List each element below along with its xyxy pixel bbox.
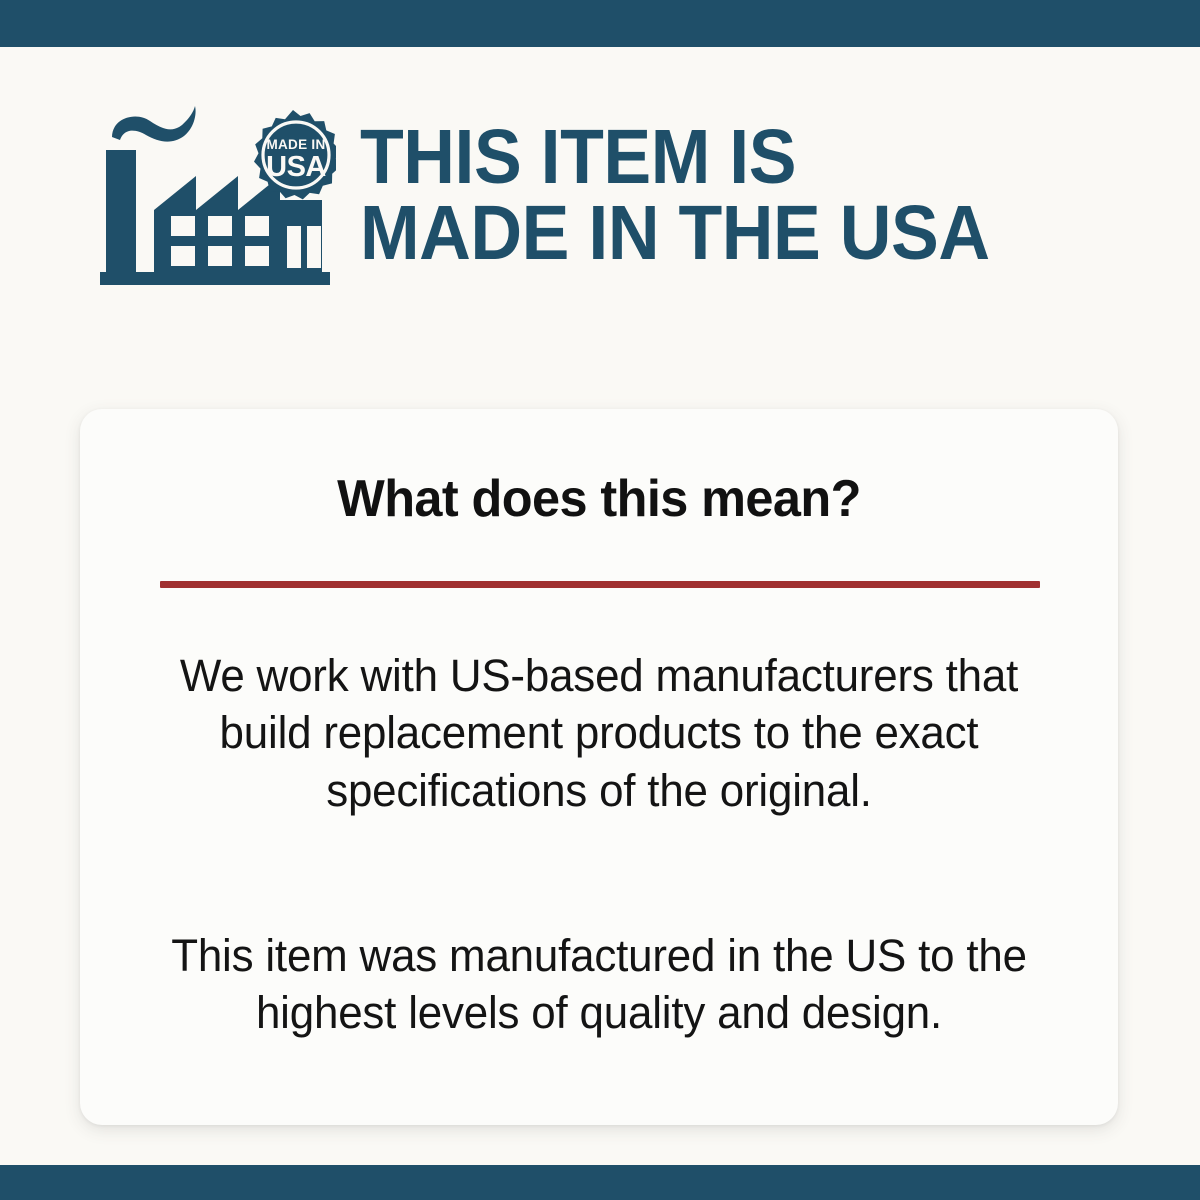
made-in-usa-logo: MADE IN USA (98, 104, 336, 286)
info-card: What does this mean? We work with US-bas… (80, 409, 1118, 1125)
badge-line1: MADE IN (266, 137, 325, 152)
badge-line2: USA (266, 151, 326, 183)
heading-divider (160, 581, 1040, 588)
page-canvas: MADE IN USA THIS ITEM IS MADE IN THE USA… (0, 47, 1200, 1165)
top-accent-bar (0, 0, 1200, 47)
made-in-usa-badge-icon: MADE IN USA (254, 110, 336, 199)
card-heading: What does this mean? (96, 469, 1103, 529)
smoke-plume-icon (112, 106, 196, 142)
factory-icon: MADE IN USA (98, 104, 336, 286)
card-paragraph-2: This item was manufactured in the US to … (154, 927, 1044, 1042)
card-paragraph-1: We work with US-based manufacturers that… (154, 647, 1044, 819)
page-title: THIS ITEM IS MADE IN THE USA (360, 119, 990, 271)
header: MADE IN USA THIS ITEM IS MADE IN THE USA (98, 95, 1158, 295)
bottom-accent-bar (0, 1165, 1200, 1200)
